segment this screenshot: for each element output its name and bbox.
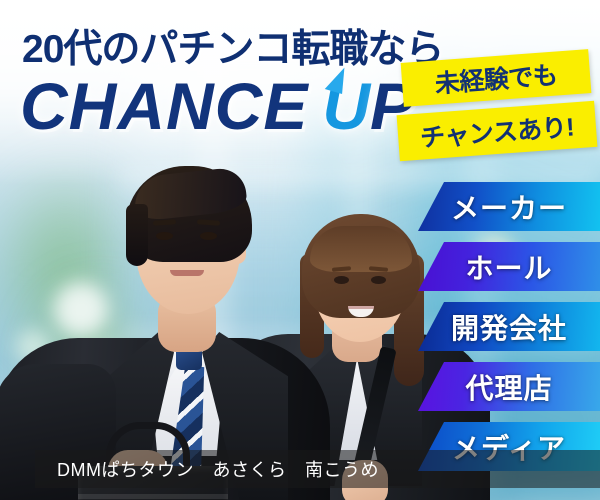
chance-up-logo: CHANCEUP	[20, 68, 420, 150]
man-eye-right	[200, 232, 217, 240]
briefcase-seam	[78, 494, 228, 499]
man-eye-left	[156, 232, 173, 240]
badge-line-2: チャンスあり!	[397, 101, 598, 161]
caption-text: DMMぱちタウン あさくら 南こうめ	[35, 456, 379, 482]
category-button-hall[interactable]: ホール	[418, 242, 600, 291]
woman-eye-left	[334, 276, 349, 284]
headline-text: 20代のパチンコ転職なら	[22, 18, 442, 74]
man-mouth	[170, 270, 204, 276]
logo-chance-text: CHANCE	[20, 69, 308, 143]
category-button-developer[interactable]: 開発会社	[418, 302, 600, 351]
woman-bangs	[310, 226, 412, 272]
man-hair-sideburn	[126, 204, 148, 266]
man-figure	[30, 150, 320, 500]
category-button-maker[interactable]: メーカー	[418, 182, 600, 231]
chance-up-banner[interactable]: 20代のパチンコ転職なら CHANCEUP 未経験でも チャンスあり! メーカー…	[0, 0, 600, 500]
badge-line-1: 未経験でも	[401, 49, 592, 107]
category-button-agency[interactable]: 代理店	[418, 362, 600, 411]
caption-bar: DMMぱちタウン あさくら 南こうめ	[35, 450, 600, 488]
experience-badge: 未経験でも チャンスあり!	[398, 56, 598, 160]
woman-eye-right	[371, 276, 386, 284]
